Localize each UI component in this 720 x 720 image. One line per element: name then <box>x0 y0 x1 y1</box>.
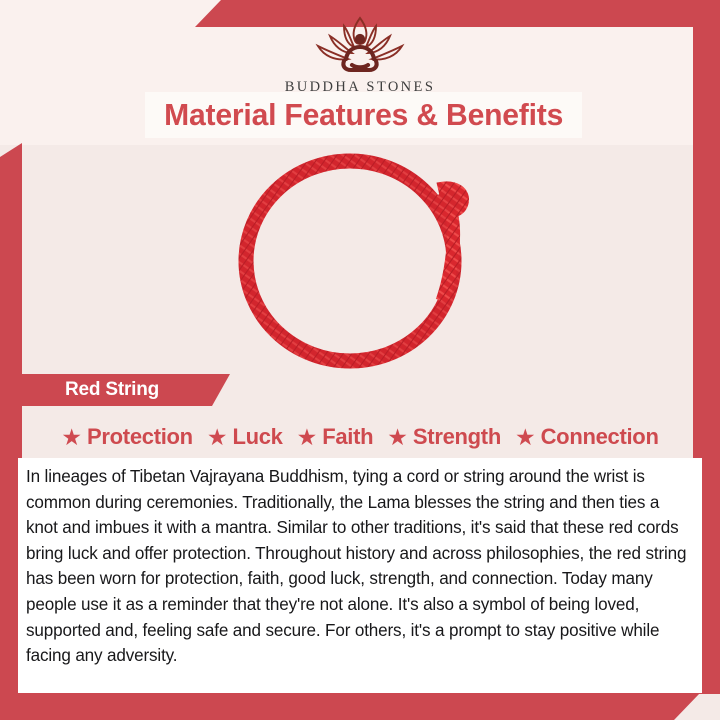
feature-label: Connection <box>541 424 659 450</box>
star-icon: ★ <box>61 426 82 449</box>
description-text: In lineages of Tibetan Vajrayana Buddhis… <box>26 464 688 669</box>
brand-logo: BUDDHA STONES <box>0 14 720 96</box>
title-banner: Material Features & Benefits <box>145 92 582 138</box>
star-icon: ★ <box>207 426 228 449</box>
poster-canvas: BUDDHA STONES Material Features & Benefi… <box>0 0 720 720</box>
star-icon: ★ <box>515 426 536 449</box>
star-icon: ★ <box>387 426 408 449</box>
description-panel: In lineages of Tibetan Vajrayana Buddhis… <box>18 458 702 693</box>
feature-label: Luck <box>232 424 282 450</box>
feature-item-strength: ★ Strength <box>387 424 501 450</box>
feature-item-connection: ★ Connection <box>515 424 659 450</box>
feature-label: Faith <box>322 424 373 450</box>
product-label: Red String <box>65 379 159 401</box>
lotus-meditation-icon <box>300 14 420 76</box>
star-icon: ★ <box>297 426 318 449</box>
feature-label: Strength <box>413 424 501 450</box>
red-string-bracelet-illustration <box>233 151 483 371</box>
feature-item-luck: ★ Luck <box>207 424 283 450</box>
frame-bar-bottom <box>0 693 700 720</box>
page-title: Material Features & Benefits <box>164 97 563 133</box>
feature-label: Protection <box>87 424 193 450</box>
feature-item-faith: ★ Faith <box>297 424 374 450</box>
features-list: ★ Protection ★ Luck ★ Faith ★ Strength ★… <box>22 418 698 456</box>
product-label-banner: Red String <box>22 374 230 406</box>
product-image <box>22 148 693 373</box>
feature-item-protection: ★ Protection <box>61 424 192 450</box>
